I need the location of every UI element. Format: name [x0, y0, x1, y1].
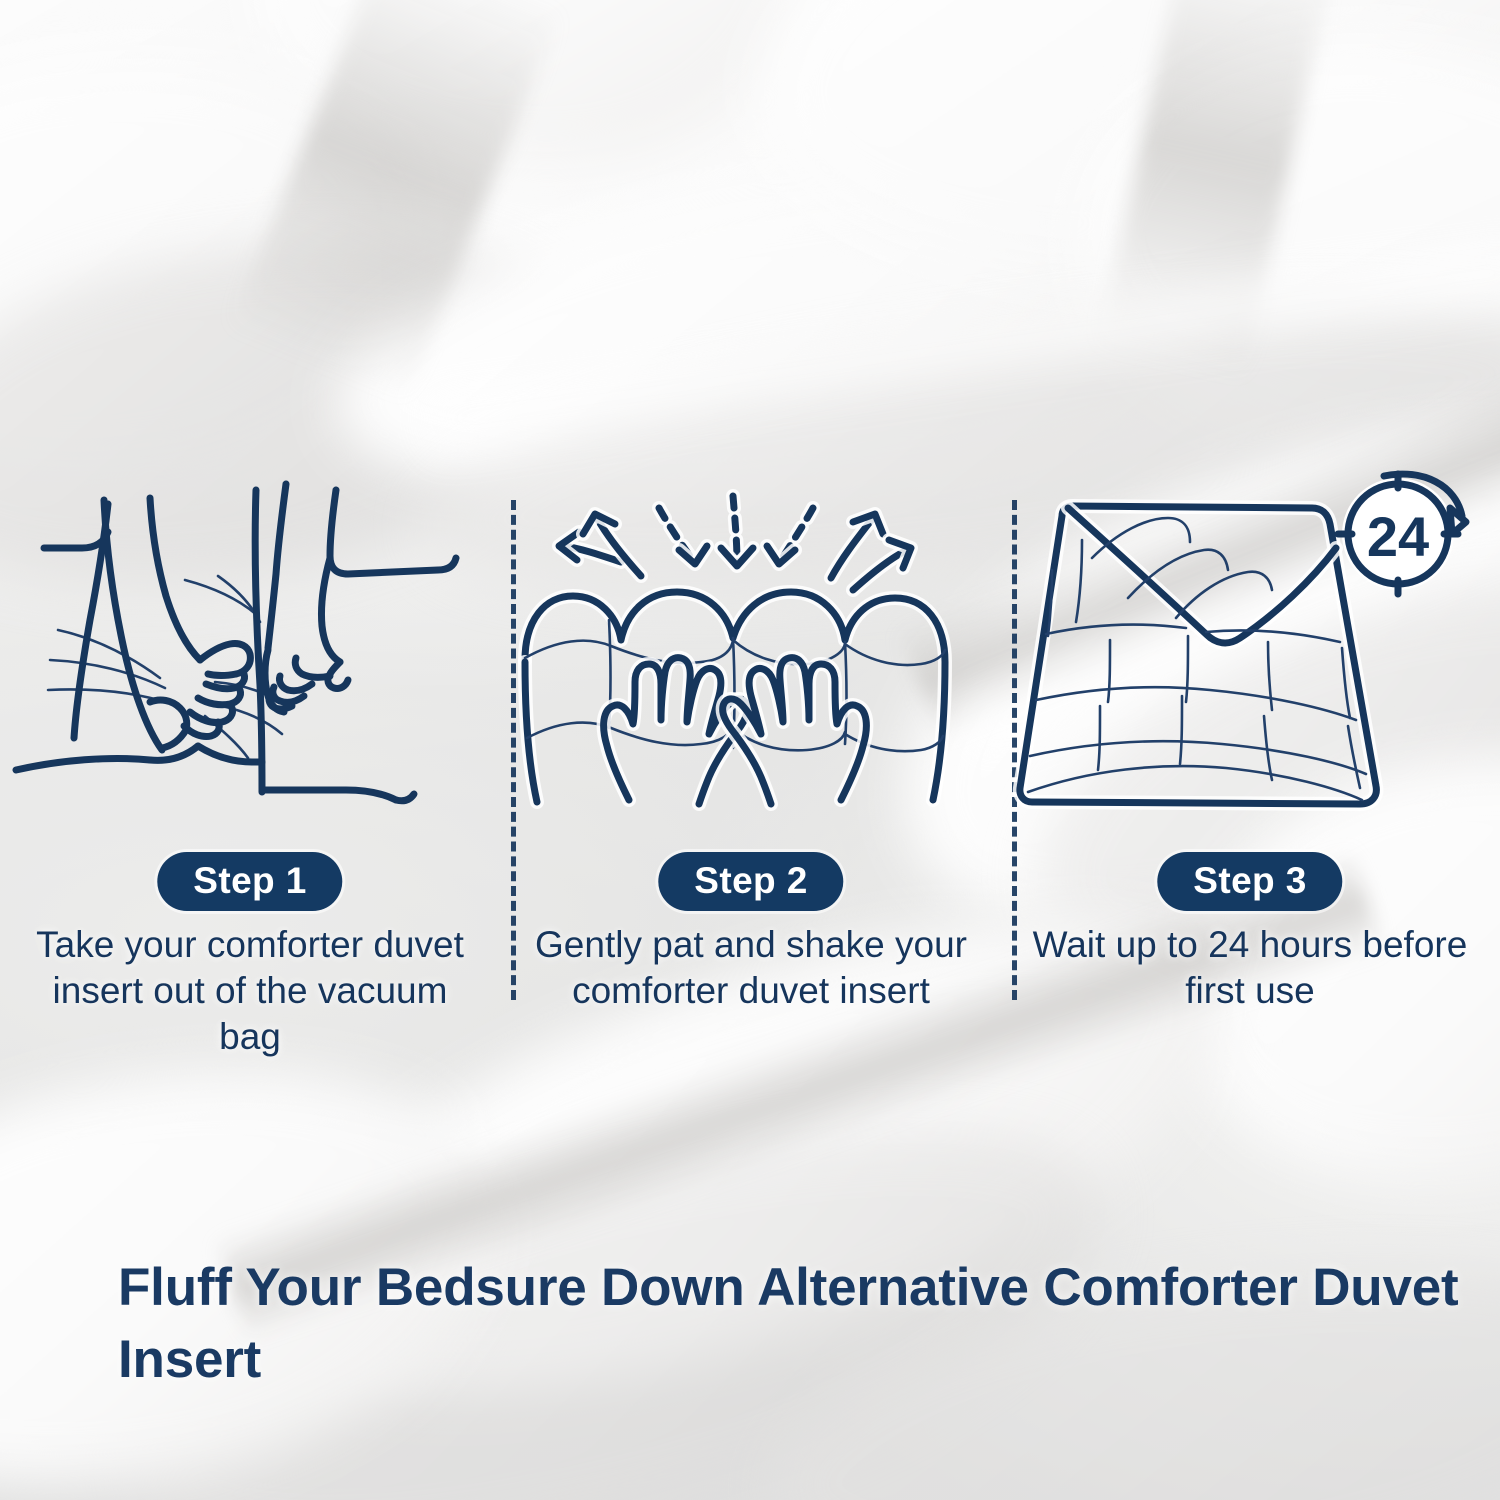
step-caption: Wait up to 24 hours before first use — [1018, 922, 1482, 1014]
folded-quilted-comforter-with-timer-icon: 24 — [1000, 470, 1500, 820]
step-caption: Gently pat and shake your comforter duve… — [519, 922, 983, 1014]
step-badge: Step 2 — [658, 852, 843, 911]
timer-24-badge: 24 — [1338, 474, 1466, 594]
arrow-down-dashed-right — [767, 508, 813, 564]
page-title: Fluff Your Bedsure Down Alternative Comf… — [118, 1252, 1468, 1396]
quilt-grid — [1030, 518, 1366, 788]
step-badge: Step 3 — [1157, 852, 1342, 911]
step-column-1: Step 1 Take your comforter duvet insert … — [0, 470, 500, 1090]
step-column-3: 24 Step 3 Wait up to 24 hours before fir… — [1000, 470, 1500, 1090]
timer-badge-value: 24 — [1367, 505, 1429, 568]
arrow-down-dashed-center — [721, 496, 753, 566]
arrow-down-dashed-left — [659, 508, 707, 564]
step-caption: Take your comforter duvet insert out of … — [18, 922, 482, 1060]
arrow-up-right-outer — [853, 540, 911, 590]
folded-corner — [1068, 508, 1336, 643]
arrow-up-left-inner — [583, 514, 641, 576]
step-badge: Step 1 — [157, 852, 342, 911]
infographic-stage: Step 1 Take your comforter duvet insert … — [0, 0, 1500, 1500]
hands-patting-quilted-comforter-icon — [501, 470, 1001, 820]
hands-pulling-comforter-from-vacuum-bag-icon — [0, 470, 500, 820]
step-column-2: Step 2 Gently pat and shake your comfort… — [501, 470, 1001, 1090]
